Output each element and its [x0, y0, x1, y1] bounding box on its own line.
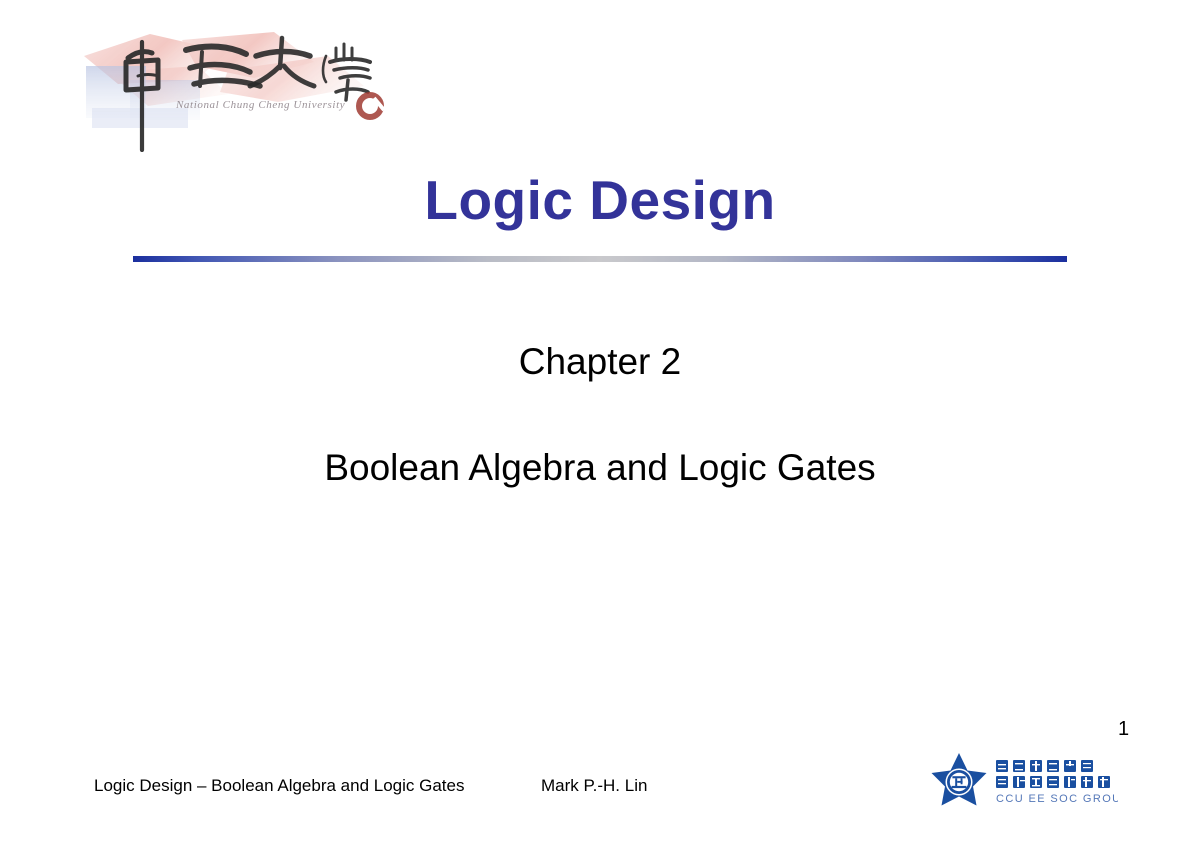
- dept-logo-line3: CCU EE SOC GROUP: [996, 793, 1118, 805]
- department-logo: CCU EE SOC GROUP: [928, 752, 1118, 814]
- footer-author: Mark P.-H. Lin: [541, 776, 647, 796]
- title-divider-rule: [133, 256, 1067, 262]
- dept-logo-line1: [996, 760, 1093, 772]
- page-title: Logic Design: [0, 172, 1200, 230]
- footer-breadcrumb: Logic Design – Boolean Algebra and Logic…: [94, 776, 464, 796]
- ccu-star-emblem: [932, 753, 987, 806]
- chapter-label: Chapter 2: [0, 340, 1200, 384]
- page-number: 1: [1118, 718, 1129, 741]
- dept-logo-line2: [996, 776, 1110, 788]
- slide-canvas: National Chung Cheng University Logic De…: [0, 0, 1200, 849]
- red-seal: [359, 95, 384, 117]
- chapter-topic: Boolean Algebra and Logic Gates: [0, 384, 1200, 490]
- university-logo: National Chung Cheng University: [78, 22, 408, 152]
- title-block: Logic Design: [0, 172, 1200, 230]
- subtitle-block: Chapter 2 Boolean Algebra and Logic Gate…: [0, 340, 1200, 491]
- svg-text:National Chung Cheng Universit: National Chung Cheng University: [175, 99, 345, 111]
